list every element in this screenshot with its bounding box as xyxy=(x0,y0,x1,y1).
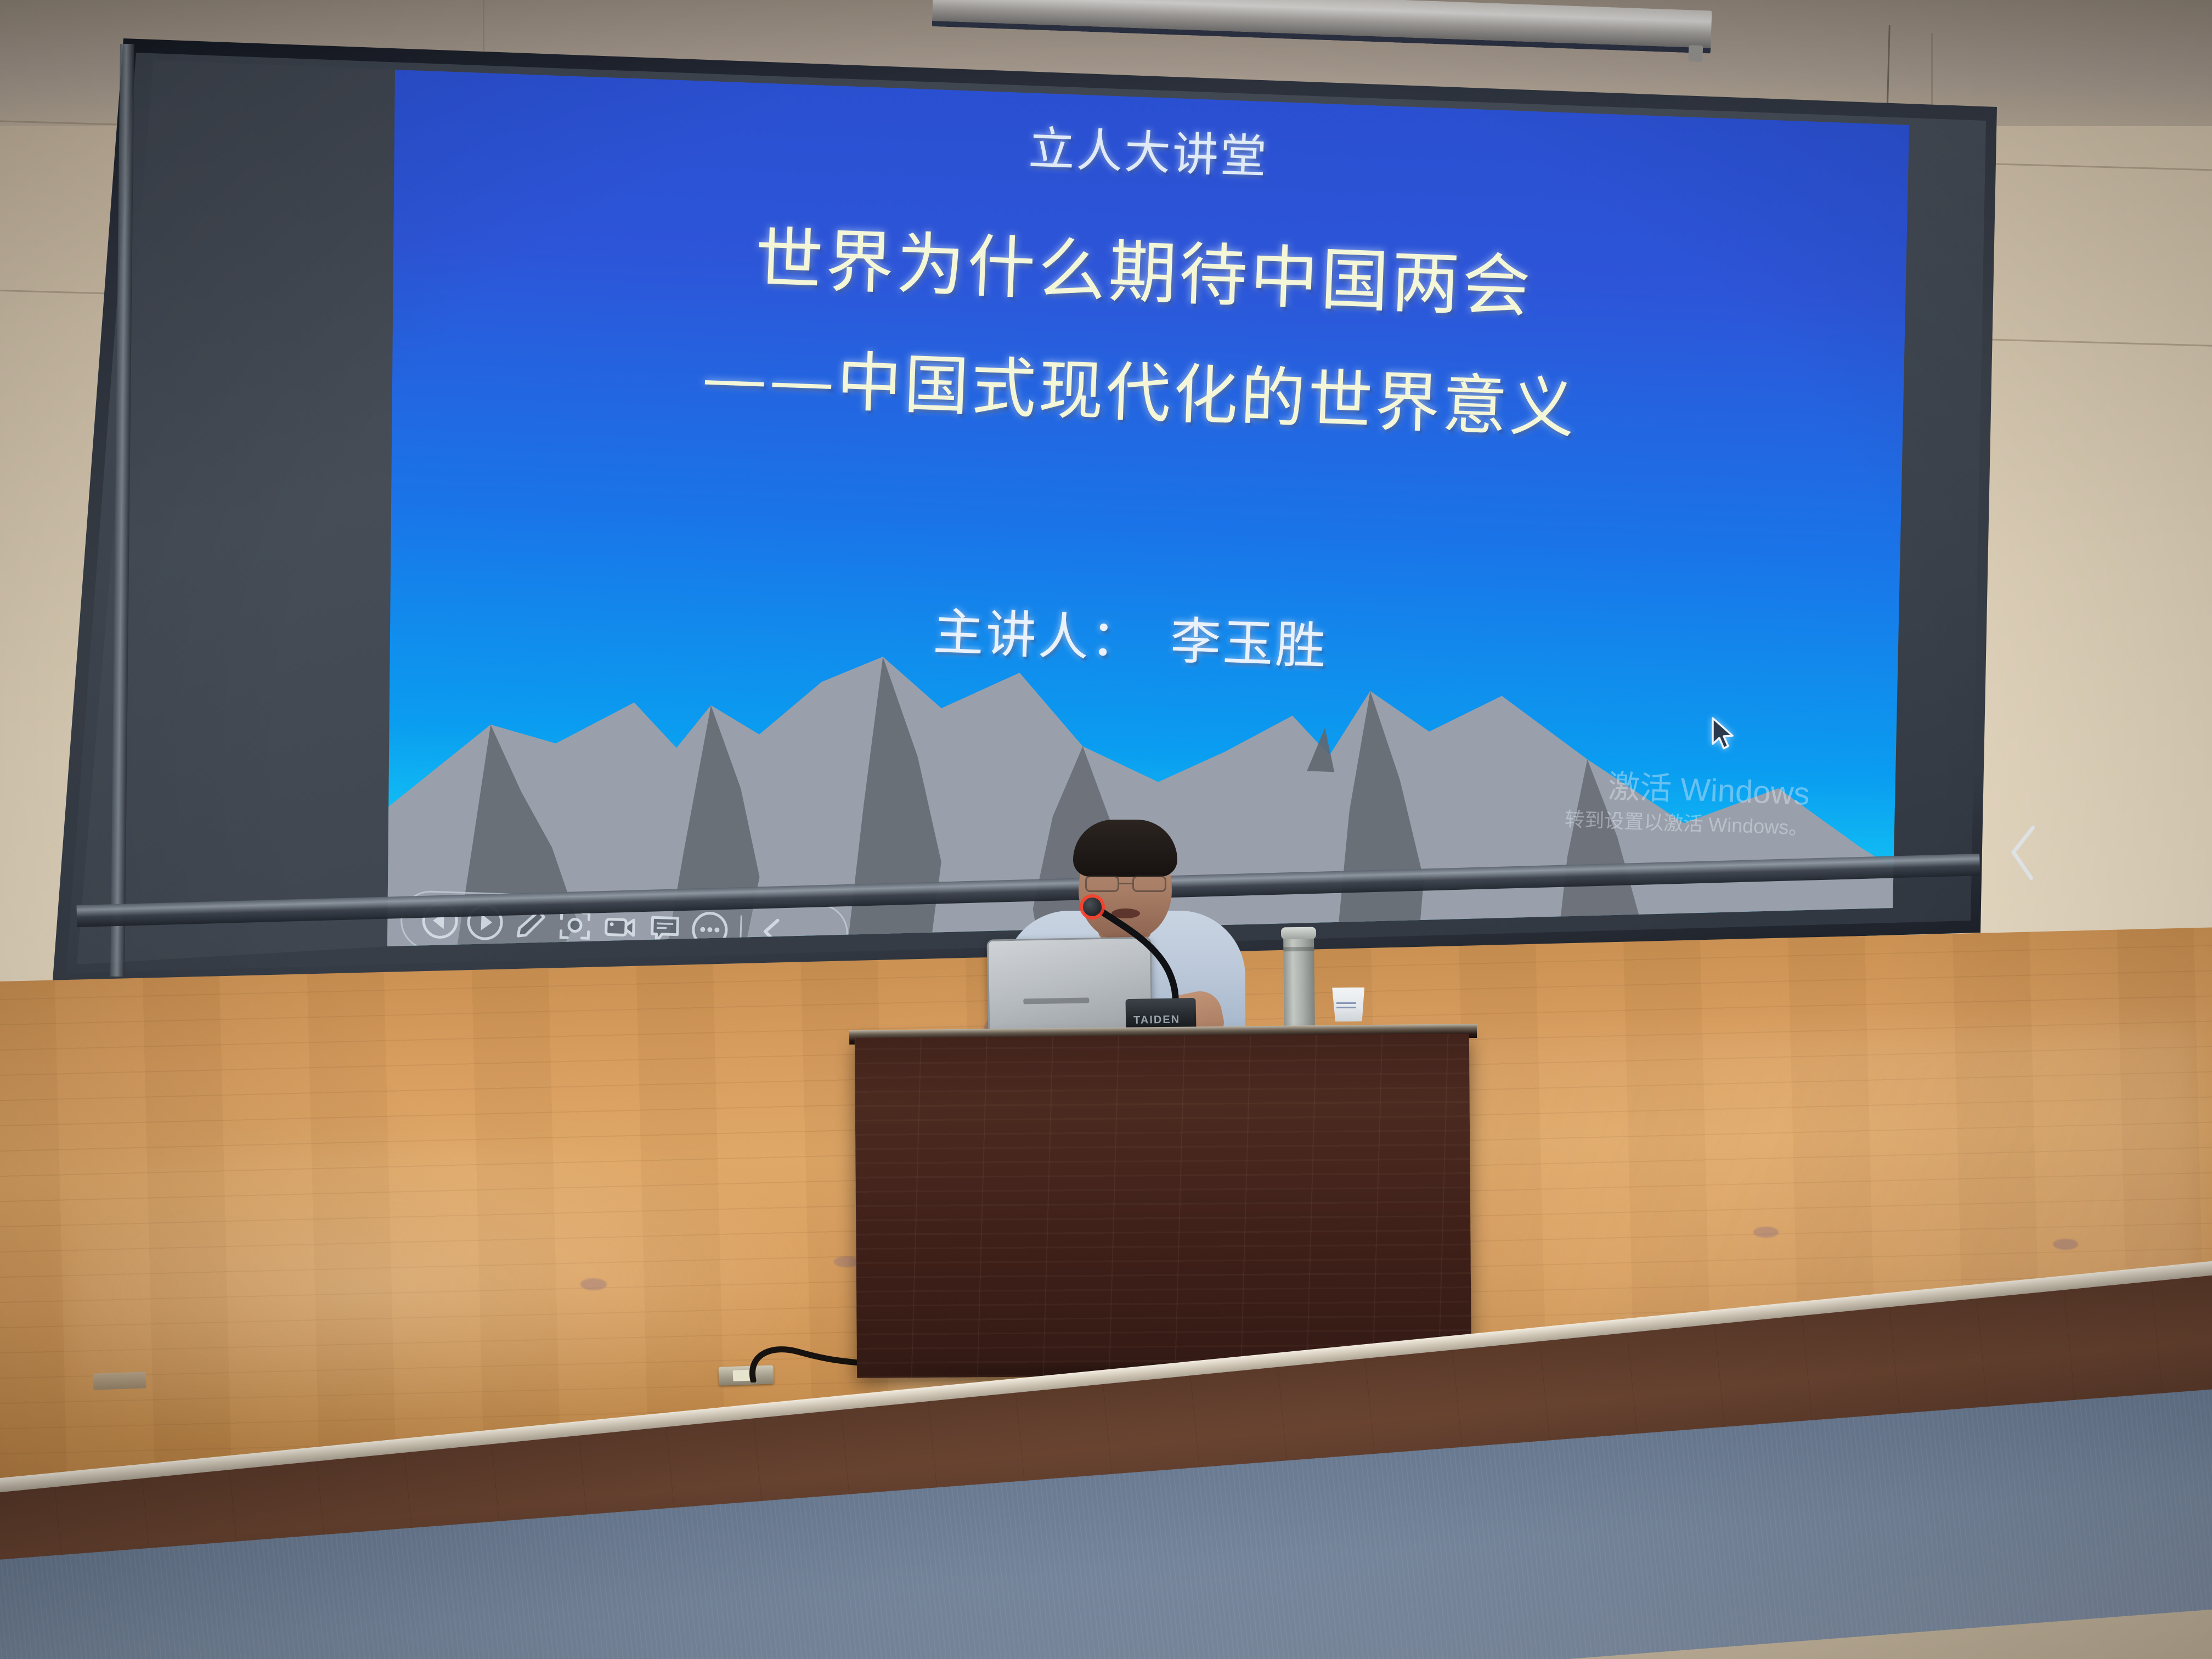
paper-cup-print xyxy=(1336,1001,1356,1008)
microphone-brand-label: TAIDEN xyxy=(1133,1013,1180,1026)
floor-inlay xyxy=(2053,1239,2078,1250)
slide-title-line1: 世界为什么期待中国两会 xyxy=(754,203,1535,330)
floor-socket-plate xyxy=(93,1372,146,1390)
mouse-pointer-icon xyxy=(1709,716,1739,752)
microphone-head xyxy=(1083,898,1102,916)
floor-inlay xyxy=(834,1256,859,1267)
podium xyxy=(855,1034,1471,1378)
floor-inlay xyxy=(580,1278,607,1290)
slide-title-line2: ——中国式现代化的世界意义 xyxy=(701,324,1579,450)
microphone-gooseneck xyxy=(1086,900,1201,1009)
left-chevron-icon[interactable] xyxy=(2002,822,2044,883)
laptop-logo xyxy=(1023,997,1089,1004)
thermos-flask xyxy=(1283,933,1315,1036)
floor-inlay xyxy=(1753,1227,1779,1238)
presenter-glasses xyxy=(1085,876,1166,892)
slide-kicker: 立人大讲堂 xyxy=(1028,111,1269,187)
microphone-base: TAIDEN xyxy=(1126,998,1197,1031)
paper-cup xyxy=(1331,988,1367,1022)
presenter-hair xyxy=(1073,820,1177,877)
slide-speaker: 主讲人： 李玉胜 xyxy=(932,591,1329,679)
lecture-hall-scene: 立人大讲堂 世界为什么期待中国两会 ——中国式现代化的世界意义 主讲人： 李玉胜… xyxy=(0,0,2212,1659)
